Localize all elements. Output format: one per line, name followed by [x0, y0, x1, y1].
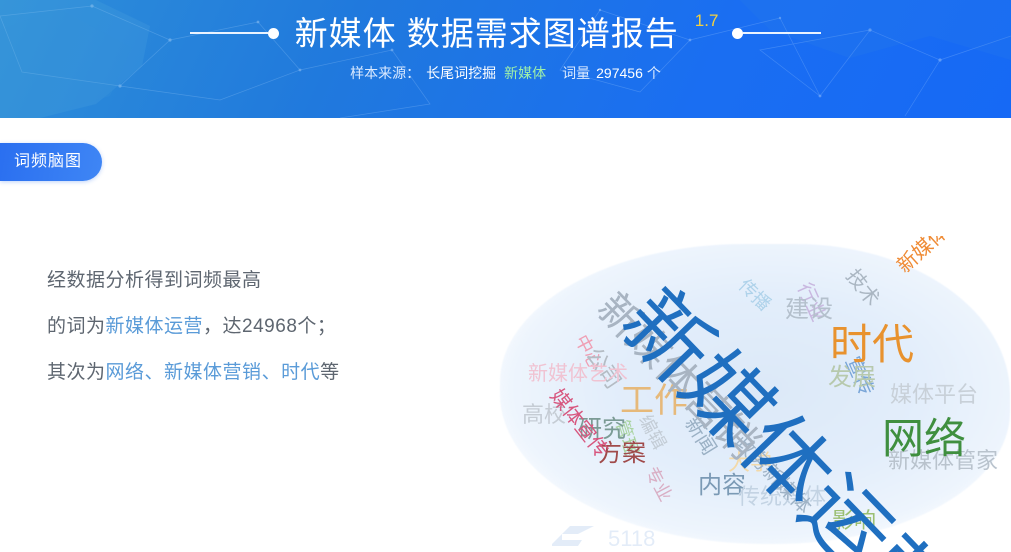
summary-word-4: 时代: [281, 362, 320, 383]
word-count-unit: 个: [643, 63, 661, 83]
summary-l2-suffix: 个；: [297, 316, 336, 337]
tab-word-frequency-mindmap[interactable]: 词频脑图: [0, 143, 102, 181]
summary-sep-2: 、: [262, 362, 282, 383]
word-count-value: 297456: [590, 65, 643, 81]
word-count-label: 词量: [546, 63, 590, 83]
summary-word-3: 新媒体营销: [164, 362, 262, 383]
decoration-dot-left: [268, 28, 279, 39]
summary-line-2: 的词为新媒体运营，达24968个；: [47, 304, 467, 350]
page-title: 新媒体 数据需求图谱报告: [279, 17, 695, 50]
decoration-line-left: [190, 32, 268, 34]
summary-word-2: 网络: [106, 362, 145, 383]
word-cloud: 新媒体运营时代网络新媒体营销工作新媒体环境新媒体管家媒体平台政务新媒体传统媒体新…: [470, 236, 1011, 552]
title-decoration-left: [190, 28, 279, 39]
summary-l3-suffix: 等: [320, 362, 340, 383]
word-cloud-item: 发展: [828, 366, 876, 390]
word-cloud-item: 时代: [830, 324, 914, 366]
decoration-dot-right: [732, 28, 743, 39]
summary-line-1: 经数据分析得到词频最高: [47, 258, 467, 304]
decoration-line-right: [743, 32, 821, 34]
summary-text: 经数据分析得到词频最高 的词为新媒体运营，达24968个； 其次为网络、新媒体营…: [47, 258, 467, 396]
word-cloud-item: 网络: [882, 418, 966, 460]
sample-source-label: 样本来源：: [350, 63, 420, 83]
tab-strip: 词频脑图: [0, 143, 102, 181]
summary-sep-1: 、: [145, 362, 165, 383]
summary-top-word: 新媒体运营: [106, 316, 204, 337]
summary-l2-prefix: 的词为: [47, 316, 106, 337]
page-header: 新媒体 数据需求图谱报告 1.7 样本来源： 长尾词挖掘 新媒体 词量 2974…: [0, 0, 1011, 118]
word-cloud-item: 建设: [785, 298, 833, 322]
subtitle-row: 样本来源： 长尾词挖掘 新媒体 词量 297456 个: [0, 60, 1011, 86]
word-cloud-item: 新媒体艺术: [528, 364, 628, 384]
summary-top-count: 24968: [242, 316, 297, 337]
sample-keyword: 新媒体: [496, 63, 546, 83]
version-badge: 1.7: [695, 12, 733, 29]
title-row: 新媒体 数据需求图谱报告 1.7: [0, 8, 1011, 58]
title-decoration-right: [732, 28, 821, 39]
sample-source-value: 长尾词挖掘: [420, 63, 496, 83]
summary-line-3: 其次为网络、新媒体营销、时代等: [47, 350, 467, 396]
summary-l2-mid: ，达: [203, 316, 242, 337]
word-cloud-item: 媒体平台: [890, 384, 978, 406]
summary-l3-prefix: 其次为: [47, 362, 106, 383]
word-cloud-item: 新媒体环境: [894, 236, 982, 277]
